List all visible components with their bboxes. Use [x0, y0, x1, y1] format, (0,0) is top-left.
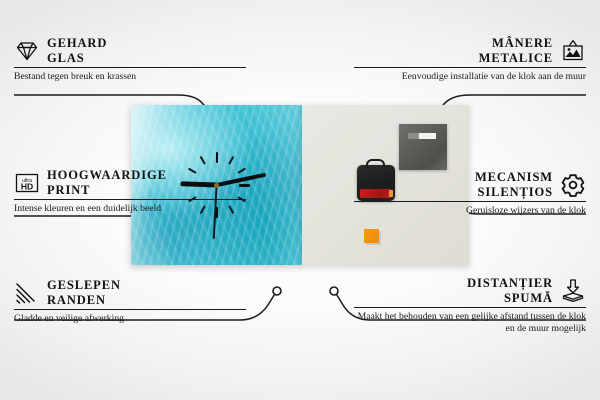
callout-title: GESLEPENRANDEN [47, 278, 121, 307]
callout-header: ultra HD HOOGWAARDIGEPRINT [14, 168, 246, 199]
hanger-slot [408, 133, 436, 139]
metal-hanger-plate [399, 124, 447, 170]
foam-spacer [364, 229, 379, 243]
framed-picture-hanging-icon [560, 38, 586, 64]
callout-hoogwaardige-print: ultra HD HOOGWAARDIGEPRINT Intense kleur… [14, 168, 246, 215]
callout-description: Geruisloze wijzers van de klok [354, 202, 586, 217]
callout-mecanism-silentios: MECANISMSILENȚIOS Geruisloze wijzers van… [354, 170, 586, 217]
callout-header: GEHARDGLAS [14, 36, 246, 67]
callout-header: MÂNEREMETALICE [354, 36, 586, 67]
callout-description: Maakt het behouden van een gelijke afsta… [354, 308, 586, 335]
callout-title: MECANISMSILENȚIOS [475, 170, 553, 199]
callout-description: Gladde en veilige afwerking [14, 310, 246, 325]
callout-manere-metalice: MÂNEREMETALICE Eenvoudige installatie va… [354, 36, 586, 83]
callout-distantier-spuma: DISTANȚIERSPUMĂ Maakt het behouden van e… [354, 276, 586, 335]
gear-icon [560, 172, 586, 198]
callout-header: DISTANȚIERSPUMĂ [354, 276, 586, 307]
callout-gehard-glas: GEHARDGLAS Bestand tegen breuk en krasse… [14, 36, 246, 83]
callout-description: Eenvoudige installatie van de klok aan d… [354, 68, 586, 83]
callout-title: DISTANȚIERSPUMĂ [467, 276, 553, 305]
callout-title: GEHARDGLAS [47, 36, 107, 65]
callout-geslepen-randen: GESLEPENRANDEN Gladde en veilige afwerki… [14, 278, 246, 325]
diamond-icon [14, 38, 40, 64]
bevelled-edges-icon [14, 280, 40, 306]
callout-title: HOOGWAARDIGEPRINT [47, 168, 167, 197]
arrow-down-onto-pad-icon [560, 278, 586, 304]
callout-header: GESLEPENRANDEN [14, 278, 246, 309]
callout-description: Bestand tegen breuk en krassen [14, 68, 246, 83]
callout-header: MECANISMSILENȚIOS [354, 170, 586, 201]
callout-title: MÂNEREMETALICE [479, 36, 553, 65]
svg-text:HD: HD [21, 181, 33, 191]
callout-description: Intense kleuren en een duidelijk beeld [14, 200, 246, 215]
ultra-hd-icon: ultra HD [14, 170, 40, 196]
movement-hanging-loop [366, 159, 385, 168]
